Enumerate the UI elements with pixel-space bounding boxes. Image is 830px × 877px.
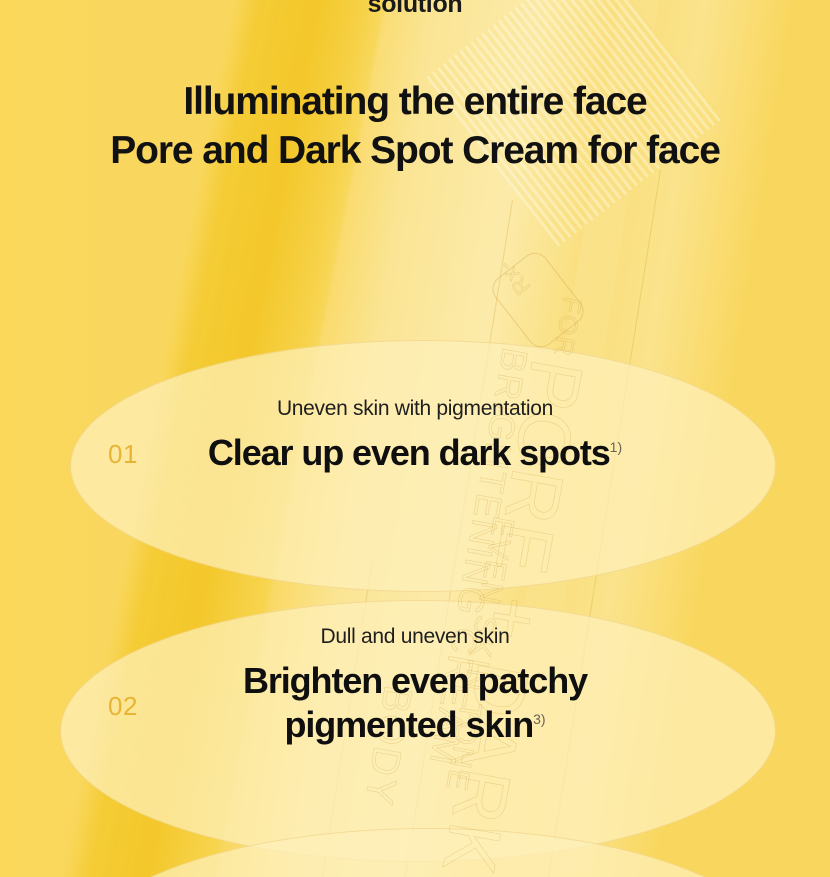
page-title: Illuminating the entire face Pore and Da… bbox=[0, 77, 830, 177]
headline-line-2: Pore and Dark Spot Cream for face bbox=[0, 126, 830, 176]
feature-ellipse-3 bbox=[78, 828, 778, 877]
feature-title-text-01: Clear up even dark spots bbox=[208, 432, 610, 473]
feature-footnote-marker-01: 1) bbox=[610, 439, 622, 455]
feature-block-01: Uneven skin with pigmentation Clear up e… bbox=[0, 396, 830, 475]
headline-line-1: Illuminating the entire face bbox=[0, 77, 830, 127]
feature-title-line-2-02-wrap: pigmented skin3) bbox=[0, 703, 830, 747]
tube-edge-line-a bbox=[404, 200, 513, 877]
feature-title-line-2-02: pigmented skin bbox=[284, 704, 533, 745]
product-detail-page: PORE + DARK BRIGHTENING CREAM FOR EVEN S… bbox=[0, 0, 830, 877]
tube-edge-line-b bbox=[547, 170, 661, 877]
section-eyebrow: solution bbox=[0, 0, 830, 19]
feature-subtitle-01: Uneven skin with pigmentation bbox=[0, 396, 830, 421]
page-content: solution Illuminating the entire face Po… bbox=[0, 0, 830, 176]
feature-title-02: Brighten even patchy pigmented skin3) bbox=[0, 659, 830, 747]
feature-subtitle-02: Dull and uneven skin bbox=[0, 624, 830, 649]
watermark-rx-badge bbox=[487, 247, 589, 353]
feature-block-02: Dull and uneven skin Brighten even patch… bbox=[0, 624, 830, 747]
feature-title-line-1-02: Brighten even patchy bbox=[0, 659, 830, 703]
feature-footnote-marker-02: 3) bbox=[533, 711, 545, 727]
watermark-rx-label: Rx- bbox=[492, 255, 536, 300]
watermark-for: FOR bbox=[547, 295, 588, 360]
feature-title-01: Clear up even dark spots1) bbox=[0, 431, 830, 475]
